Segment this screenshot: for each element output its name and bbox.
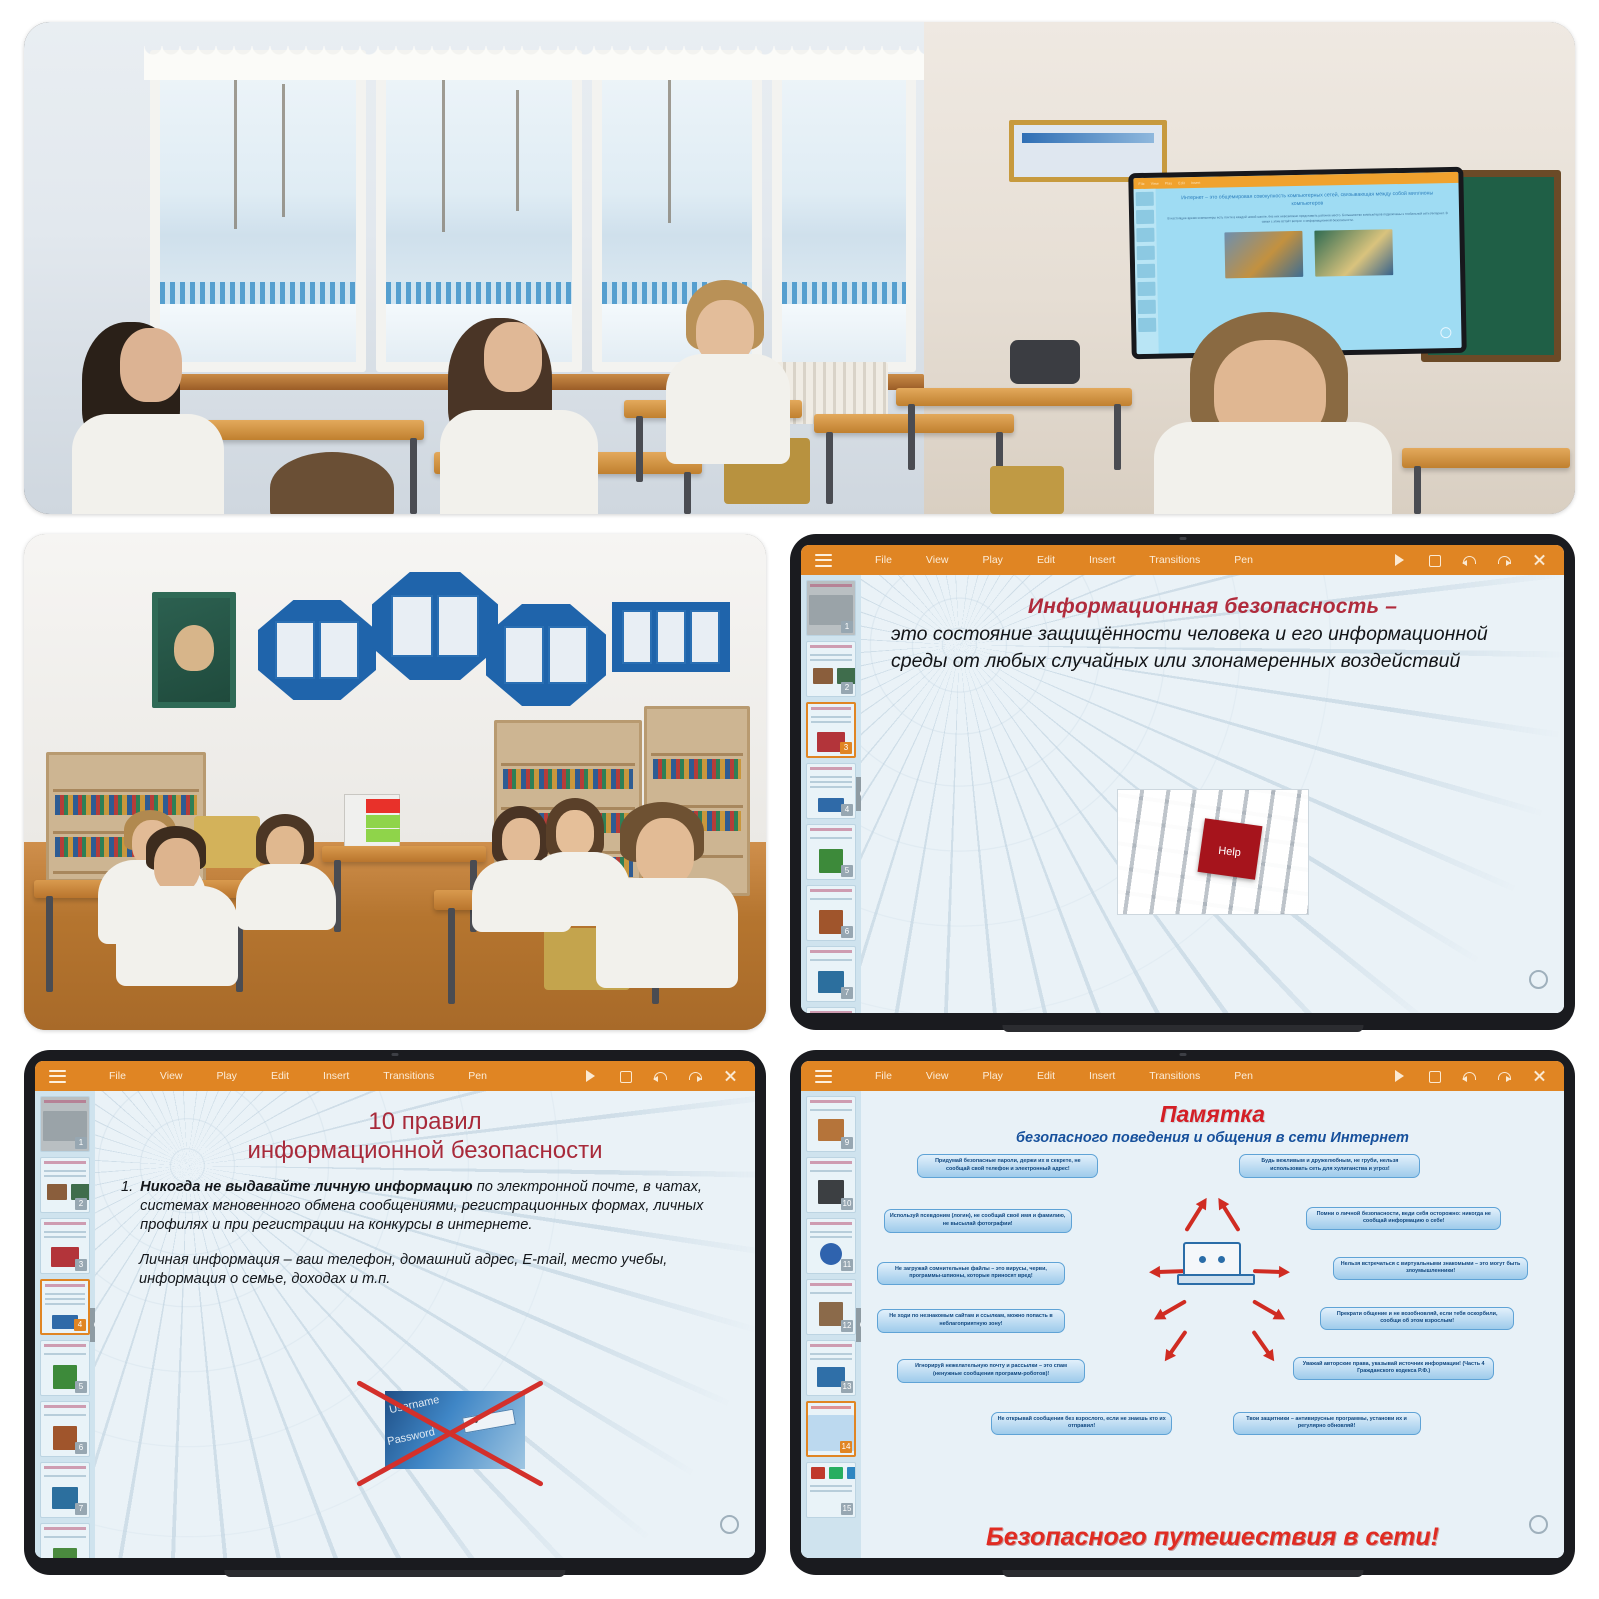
menu-pen[interactable]: Pen	[1217, 554, 1270, 566]
thumbnail-slide[interactable]: 9	[806, 1096, 856, 1152]
app-menu-bar: File View Play Edit Insert Transitions P…	[801, 1061, 1564, 1091]
window-4	[772, 50, 916, 372]
menu-insert[interactable]: Insert	[306, 1070, 366, 1082]
memo-box: Придумай безопасные пароли, держи их в с…	[917, 1154, 1098, 1178]
app-menu-bar: File View Play Edit Insert Transitions P…	[35, 1061, 755, 1091]
desk	[896, 388, 1132, 406]
tv-slide-images	[1166, 228, 1450, 279]
stop-icon[interactable]	[1427, 553, 1441, 567]
memo-box: Не ходи по незнакомым сайтам и ссылкам, …	[877, 1309, 1065, 1333]
thumbnail-number: 2	[841, 682, 853, 694]
play-icon[interactable]	[1392, 553, 1406, 567]
tv-menu-play: Play	[1165, 181, 1172, 185]
menu-insert[interactable]: Insert	[1072, 554, 1132, 566]
thumbnail-slide-selected[interactable]: 14	[806, 1401, 856, 1457]
thumbnail-slide[interactable]: 1	[40, 1096, 90, 1152]
thumbnail-slide-selected[interactable]: 3	[806, 702, 856, 758]
window-1	[150, 50, 366, 372]
thumbnail-slide-selected[interactable]: 4	[40, 1279, 90, 1335]
thumbnail-slide[interactable]: 7	[806, 946, 856, 1002]
tv-camera	[1179, 537, 1186, 540]
hamburger-menu-icon[interactable]	[49, 1070, 66, 1083]
thumbnail-slide[interactable]: 13	[806, 1340, 856, 1396]
memo-box: Используй псевдоним (логин), не сообщай …	[884, 1209, 1072, 1233]
thumbnail-number: 9	[841, 1137, 853, 1149]
thumbnail-slide[interactable]: 6	[40, 1401, 90, 1457]
thumbnail-slide[interactable]: 8	[806, 1007, 856, 1013]
menu-edit[interactable]: Edit	[1020, 1070, 1072, 1082]
tv-panel-memo: File View Play Edit Insert Transitions P…	[790, 1050, 1575, 1575]
menu-play[interactable]: Play	[966, 1070, 1020, 1082]
help-key-label: Help	[1218, 845, 1242, 859]
redo-icon[interactable]	[1497, 1069, 1511, 1083]
desk	[322, 846, 486, 862]
slide-thumbnail-panel[interactable]: 1 2 3 4	[801, 575, 861, 1013]
hamburger-menu-icon[interactable]	[815, 554, 832, 567]
thumbnail-number: 7	[841, 987, 853, 999]
photo-collage: File View Play Edit Insert Интернет – эт…	[0, 0, 1599, 1599]
thumbnail-number: 1	[75, 1137, 87, 1149]
menu-file[interactable]: File	[858, 554, 909, 566]
undo-icon[interactable]	[1462, 1069, 1476, 1083]
thumbnail-slide[interactable]: 4	[806, 763, 856, 819]
thumbnail-slide[interactable]: 2	[40, 1157, 90, 1213]
tv-menu-view: View	[1151, 181, 1159, 185]
tv-stand	[1002, 1025, 1363, 1032]
menu-view[interactable]: View	[909, 1070, 966, 1082]
memo-box: Помни о личной безопасности, веди себя о…	[1306, 1207, 1501, 1231]
portrait-octagon-1	[258, 600, 376, 700]
memo-box: Будь вежливым и дружелюбным, не груби, н…	[1239, 1154, 1420, 1178]
undo-icon[interactable]	[1462, 553, 1476, 567]
undo-icon[interactable]	[653, 1069, 667, 1083]
red-cross-icon	[352, 1379, 548, 1483]
memo-heading: Памятка	[877, 1101, 1548, 1128]
slide-title-line2: информационной безопасности	[121, 1136, 729, 1165]
thumbnail-number: 5	[841, 865, 853, 877]
thumbnail-number: 6	[841, 926, 853, 938]
app-menu-bar: File View Play Edit Insert Transitions P…	[801, 545, 1564, 575]
laptop-mascot-icon	[1177, 1232, 1249, 1296]
memo-box: Нельзя встречаться с виртуальными знаком…	[1333, 1257, 1528, 1281]
thumbnail-number: 7	[75, 1503, 87, 1515]
menu-edit[interactable]: Edit	[254, 1070, 306, 1082]
tv-menu-file: File	[1138, 181, 1144, 185]
stop-icon[interactable]	[1427, 1069, 1441, 1083]
tv-power-indicator	[1529, 1515, 1548, 1534]
stop-icon[interactable]	[618, 1069, 632, 1083]
thumbnail-slide[interactable]: 1	[806, 580, 856, 636]
arrow-icon	[1184, 1199, 1206, 1232]
memo-box: Прекрати общение и не возобновляй, если …	[1320, 1307, 1515, 1331]
close-icon[interactable]	[723, 1069, 737, 1083]
close-icon[interactable]	[1532, 553, 1546, 567]
thumbnail-slide[interactable]: 8	[40, 1523, 90, 1558]
tv-stand	[1002, 1570, 1363, 1577]
play-icon[interactable]	[1392, 1069, 1406, 1083]
thumbnail-number: 3	[75, 1259, 87, 1271]
slide-title: Информационная безопасность –	[891, 595, 1534, 619]
thumbnail-slide[interactable]: 3	[40, 1218, 90, 1274]
thumbnail-number: 1	[841, 621, 853, 633]
portrait-rect-group	[612, 602, 730, 672]
arrow-icon	[1253, 1269, 1287, 1274]
slide-canvas[interactable]: 10 правил информационной безопасности 1.…	[95, 1091, 755, 1558]
thumbnail-slide[interactable]: 15	[806, 1462, 856, 1518]
play-icon[interactable]	[583, 1069, 597, 1083]
rule-bold-text: Никогда не выдавайте личную информацию	[140, 1179, 472, 1195]
memo-box: Твои защитники – антивирусные программы,…	[1233, 1412, 1421, 1436]
menu-transitions[interactable]: Transitions	[366, 1070, 451, 1082]
redo-icon[interactable]	[688, 1069, 702, 1083]
menu-play[interactable]: Play	[200, 1070, 254, 1082]
tv-power-indicator	[1529, 970, 1548, 989]
thumbnail-slide[interactable]: 12	[806, 1279, 856, 1335]
menu-file[interactable]: File	[92, 1070, 143, 1082]
menu-play[interactable]: Play	[966, 554, 1020, 566]
tv-slide-body: В настоящее время компьютеры есть почти …	[1166, 211, 1449, 227]
menu-transitions[interactable]: Transitions	[1132, 1070, 1217, 1082]
menu-pen[interactable]: Pen	[1217, 1070, 1270, 1082]
hamburger-menu-icon[interactable]	[815, 1070, 832, 1083]
thumbnail-slide[interactable]: 5	[806, 824, 856, 880]
photo-library-classroom	[24, 534, 766, 1030]
help-keyboard-image: Help	[1117, 789, 1309, 915]
tv-menu-insert: Insert	[1191, 180, 1201, 184]
thumbnail-slide[interactable]: 10	[806, 1157, 856, 1213]
menu-insert[interactable]: Insert	[1072, 1070, 1132, 1082]
thumbnail-number: 4	[74, 1319, 86, 1331]
thumbnail-slide[interactable]: 2	[806, 641, 856, 697]
thumbnail-number: 6	[75, 1442, 87, 1454]
menu-view[interactable]: View	[143, 1070, 200, 1082]
chair	[990, 466, 1064, 514]
thumbnail-number: 12	[841, 1320, 853, 1332]
memo-slogan: Безопасного путешествия в сети!	[861, 1523, 1564, 1552]
tv-panel-rules: File View Play Edit Insert Transitions P…	[24, 1050, 766, 1575]
arrow-icon	[1219, 1199, 1241, 1232]
redo-icon[interactable]	[1497, 553, 1511, 567]
arrow-icon	[1155, 1299, 1186, 1319]
memo-box: Игнорируй нежелательную почту и рассылки…	[897, 1359, 1085, 1383]
portrait-octagon-2	[372, 572, 498, 680]
slide-canvas[interactable]: Информационная безопасность – это состоя…	[861, 575, 1564, 1013]
menu-file[interactable]: File	[858, 1070, 909, 1082]
thumbnail-slide[interactable]: 5	[40, 1340, 90, 1396]
memo-box: Не загружай сомнительные файлы – это вир…	[877, 1262, 1065, 1286]
chair	[1010, 340, 1080, 384]
tv-power-indicator	[720, 1515, 739, 1534]
rule-number: 1.	[121, 1178, 133, 1236]
arrow-icon	[1252, 1299, 1283, 1319]
slide-body: это состояние защищённости человека и ег…	[891, 621, 1534, 674]
tv-panel-infosec: File View Play Edit Insert Transitions P…	[790, 534, 1575, 1030]
thumbnail-number: 10	[841, 1198, 853, 1210]
tv-menu-edit: Edit	[1178, 181, 1185, 185]
thumbnail-number: 13	[841, 1381, 853, 1393]
tv-thumbnail-panel	[1134, 189, 1159, 354]
tv-camera	[1179, 1053, 1186, 1056]
thumbnail-slide[interactable]: 11	[806, 1218, 856, 1274]
slide-thumbnail-panel[interactable]: 1 2 3 4	[35, 1091, 95, 1558]
slide-canvas[interactable]: Памятка безопасного поведения и общения …	[861, 1091, 1564, 1558]
desk	[1402, 448, 1570, 468]
tv-stand	[224, 1570, 565, 1577]
menu-view[interactable]: View	[909, 554, 966, 566]
tv-camera	[392, 1053, 399, 1056]
desk	[194, 420, 424, 440]
thumbnail-number: 5	[75, 1381, 87, 1393]
slide-title-line1: 10 правил	[121, 1107, 729, 1136]
thumbnail-number: 4	[841, 804, 853, 816]
slide-thumbnail-panel[interactable]: 9 10 11 12	[801, 1091, 861, 1558]
close-icon[interactable]	[1532, 1069, 1546, 1083]
personal-info-paragraph: Личная информация – ваш телефон, домашни…	[121, 1251, 729, 1290]
portrait-abai	[152, 592, 236, 708]
photo-classroom-windows: File View Play Edit Insert Интернет – эт…	[24, 22, 1575, 514]
memo-subheading: безопасного поведения и общения в сети И…	[877, 1130, 1548, 1146]
arrow-icon	[1165, 1330, 1188, 1360]
arrow-icon	[1251, 1330, 1274, 1360]
thumbnail-number: 11	[841, 1259, 853, 1271]
memo-diagram: Придумай безопасные пароли, держи их в с…	[877, 1154, 1548, 1404]
thumbnail-slide[interactable]: 7	[40, 1462, 90, 1518]
tv-slide-title: Интернет – это общемировая совокупность …	[1166, 190, 1449, 211]
menu-edit[interactable]: Edit	[1020, 554, 1072, 566]
memo-box: Не открывай сообщения без взрослого, есл…	[991, 1412, 1172, 1436]
thumbnail-number: 14	[840, 1441, 852, 1453]
thumbnail-slide[interactable]: 6	[806, 885, 856, 941]
thumbnail-number: 15	[841, 1503, 853, 1515]
memo-box: Уважай авторские права, указывай источни…	[1293, 1357, 1494, 1381]
thumbnail-number: 3	[840, 742, 852, 754]
thumbnail-number: 2	[75, 1198, 87, 1210]
menu-pen[interactable]: Pen	[451, 1070, 504, 1082]
window-valance	[144, 46, 924, 80]
menu-transitions[interactable]: Transitions	[1132, 554, 1217, 566]
